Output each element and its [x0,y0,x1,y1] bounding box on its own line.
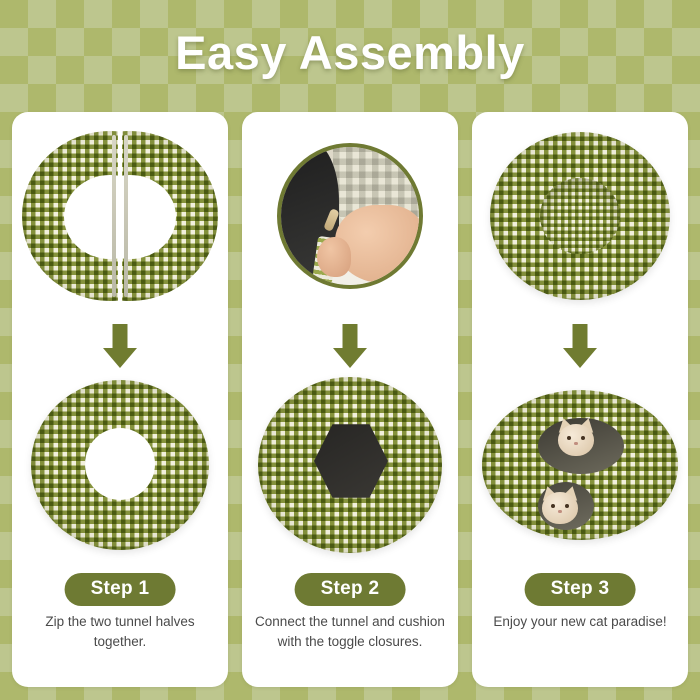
step-badge-3: Step 3 [525,573,636,606]
page-title: Easy Assembly [175,25,525,80]
zipper-edge-right [124,135,128,297]
cat-bottom [538,486,582,526]
arrow-down-icon [330,324,370,368]
title-banner: Easy Assembly [0,0,700,104]
step-1-top-illustration [12,120,228,312]
step-3-bottom-illustration [472,370,688,560]
assembled-tunnel-ring-graphic [31,380,209,550]
step-2-top-illustration [242,120,458,312]
step-caption-3: Enjoy your new cat paradise! [482,612,678,632]
step-badge-2: Step 2 [295,573,406,606]
zipper-edge-left [112,135,116,297]
step-caption-2: Connect the tunnel and cushion with the … [252,612,448,651]
step-1-bottom-illustration [12,370,228,560]
step-card-2: Step 2 Connect the tunnel and cushion wi… [242,112,458,687]
cat-top [554,418,598,458]
arrow-down-icon [560,324,600,368]
steps-container: Step 1 Zip the two tunnel halves togethe… [12,112,688,687]
bed-with-cushion-graphic [258,377,442,553]
step-2-bottom-illustration [242,370,458,560]
arrow-down-icon [100,324,140,368]
step-badge-1: Step 1 [65,573,176,606]
tunnel-half-right [122,131,218,301]
step-card-3: Step 3 Enjoy your new cat paradise! [472,112,688,687]
step-card-1: Step 1 Zip the two tunnel halves togethe… [12,112,228,687]
infographic-poster: Easy Assembly [0,0,700,700]
step-3-top-illustration [472,120,688,312]
step-caption-1: Zip the two tunnel halves together. [22,612,218,651]
split-tunnel-halves-graphic [20,127,220,305]
toggle-closure-photo [277,143,423,289]
tunnel-half-left [22,131,118,301]
cats-in-bed-graphic [482,390,678,540]
assembled-bed-graphic [490,132,670,300]
